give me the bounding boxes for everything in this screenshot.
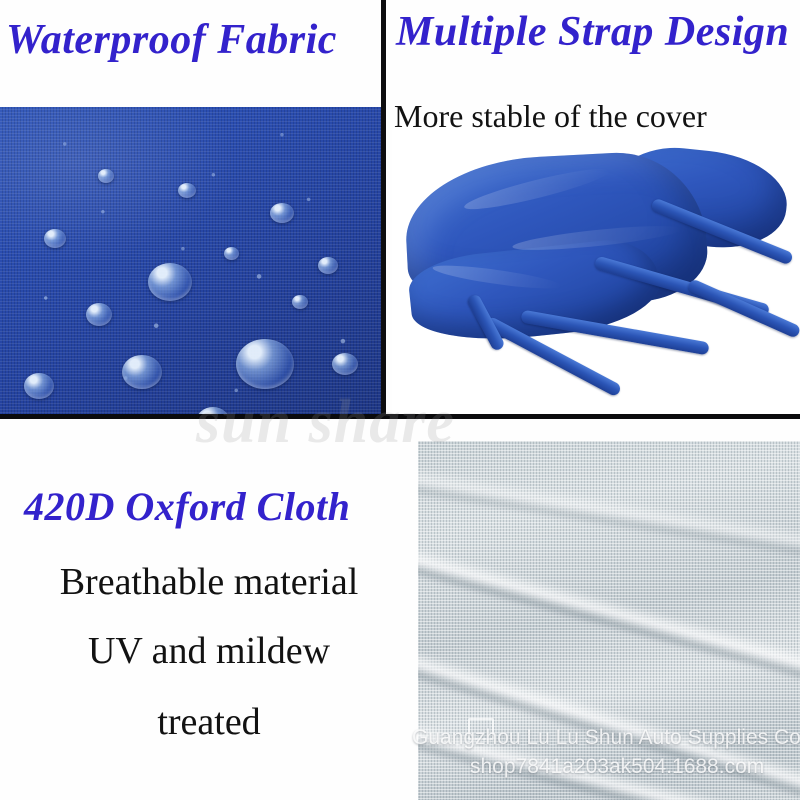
water-droplet	[86, 303, 112, 326]
water-droplet	[178, 183, 196, 198]
water-droplet	[148, 263, 192, 301]
water-droplet	[24, 373, 54, 399]
water-droplet	[122, 355, 162, 389]
water-droplet	[292, 295, 308, 309]
shop-badge-icon	[468, 718, 494, 740]
water-droplet	[98, 169, 114, 183]
water-droplet	[332, 353, 358, 375]
water-droplet	[236, 339, 294, 389]
vertical-divider	[381, 0, 386, 419]
horizontal-divider	[0, 414, 800, 419]
oxford-line-breathable: Breathable material	[0, 560, 418, 604]
strap-heading: Multiple Strap Design	[396, 8, 789, 56]
strap-cover-photo	[392, 130, 800, 415]
oxford-heading: 420D Oxford Cloth	[24, 483, 350, 530]
cover-strap	[687, 278, 800, 339]
water-droplet	[318, 257, 338, 274]
water-droplet	[270, 203, 294, 223]
waterproof-fabric-photo	[0, 107, 381, 415]
waterproof-heading: Waterproof Fabric	[6, 16, 337, 64]
oxford-line-treated: treated	[0, 700, 418, 744]
product-feature-collage: Waterproof Fabric Multiple Strap Design …	[0, 0, 800, 800]
oxford-cloth-photo	[418, 441, 800, 800]
water-droplet	[224, 247, 239, 260]
water-droplet	[44, 229, 66, 248]
oxford-line-uv: UV and mildew	[0, 629, 418, 673]
